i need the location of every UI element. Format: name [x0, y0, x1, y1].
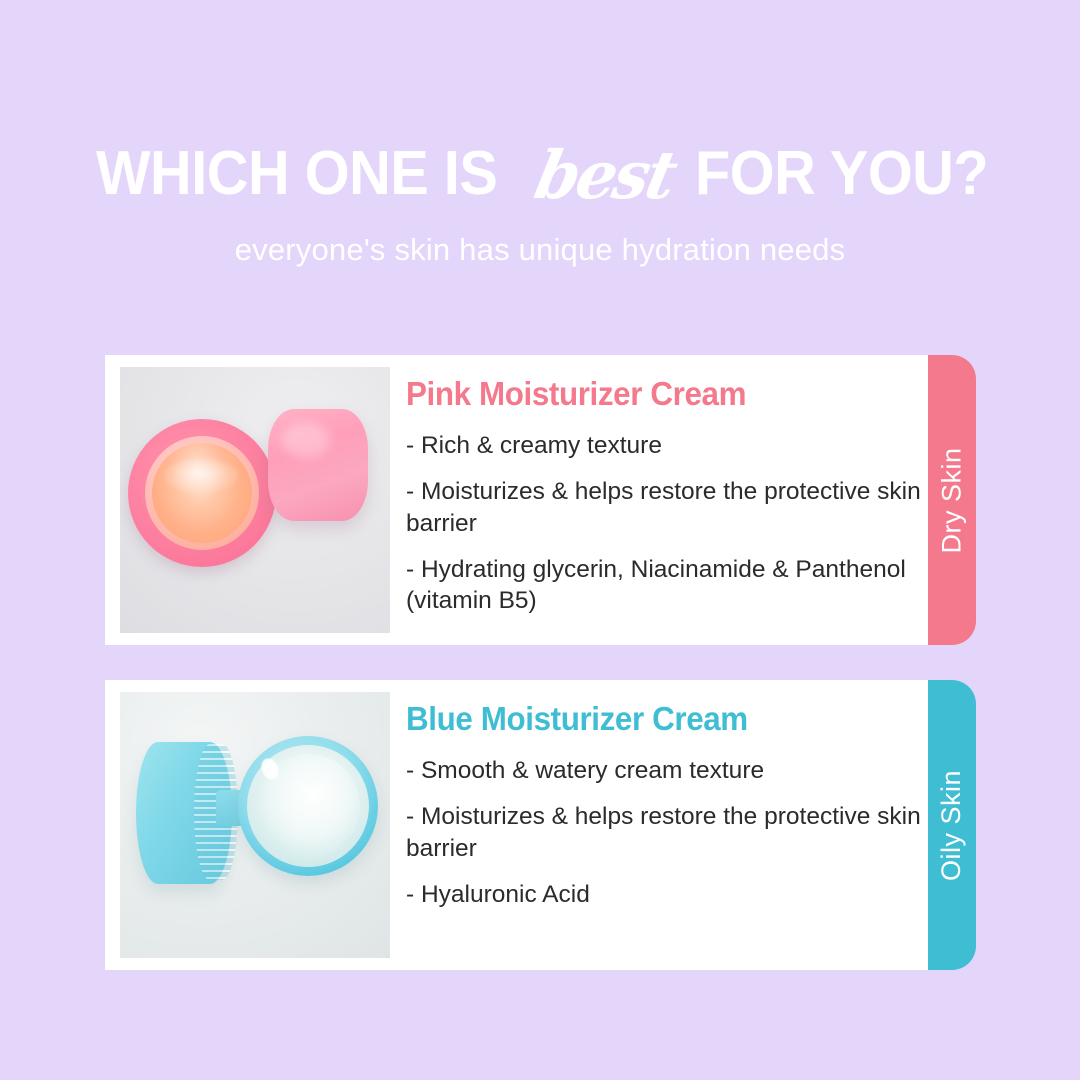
headline-pre: WHICH ONE IS [96, 143, 497, 205]
product-title-pink: Pink Moisturizer Cream [406, 375, 904, 413]
page-title: WHICH ONE ISbestFOR YOU? [0, 138, 1080, 212]
cream-swirl-highlight-icon [164, 459, 238, 493]
headline-post: FOR YOU? [695, 143, 988, 205]
list-item: - Hyaluronic Acid [406, 879, 926, 910]
list-item: - Hydrating glycerin, Niacinamide & Pant… [406, 554, 926, 617]
list-item: - Rich & creamy texture [406, 430, 926, 461]
product-card-pink[interactable]: Pink Moisturizer Cream - Rich & creamy t… [105, 355, 930, 645]
skin-type-tab-label: Dry Skin [937, 447, 968, 553]
product-photo-pink [120, 367, 390, 633]
page-subtitle: everyone's skin has unique hydration nee… [0, 232, 1080, 268]
cream-surface-icon [152, 443, 252, 543]
list-item: - Smooth & watery cream texture [406, 755, 926, 786]
skin-type-tab-oily[interactable]: Oily Skin [928, 680, 976, 970]
skin-type-tab-label: Oily Skin [937, 769, 968, 880]
product-card-blue[interactable]: Blue Moisturizer Cream - Smooth & watery… [105, 680, 930, 970]
list-item: - Moisturizes & helps restore the protec… [406, 476, 926, 539]
card-body-pink: Pink Moisturizer Cream - Rich & creamy t… [390, 355, 930, 617]
feature-list-blue: - Smooth & watery cream texture - Moistu… [406, 755, 930, 910]
skin-type-tab-dry[interactable]: Dry Skin [928, 355, 976, 645]
list-item: - Moisturizes & helps restore the protec… [406, 801, 926, 864]
product-title-blue: Blue Moisturizer Cream [406, 700, 904, 738]
lid-highlight-icon [282, 423, 330, 457]
product-photo-blue [120, 692, 390, 958]
card-body-blue: Blue Moisturizer Cream - Smooth & watery… [390, 680, 930, 910]
headline-script-word: best [517, 142, 694, 208]
feature-list-pink: - Rich & creamy texture - Moisturizes & … [406, 430, 930, 617]
header: WHICH ONE ISbestFOR YOU? everyone's skin… [0, 0, 1080, 268]
